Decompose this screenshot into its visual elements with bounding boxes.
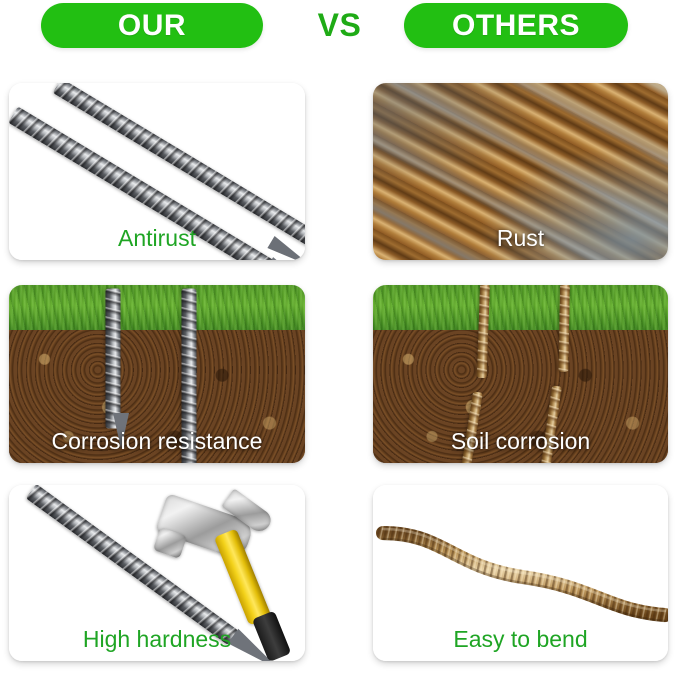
rusty-rebar-pile-image: [373, 83, 668, 260]
others-pill-badge: OTHERS: [404, 3, 628, 48]
intact-stake-2: [182, 289, 197, 464]
soil-cross-section-corroded-stakes-image: [373, 285, 668, 463]
antirust-stakes-image: [9, 83, 305, 260]
intact-stake-1: [106, 289, 121, 429]
intact-stake-1-tip: [113, 413, 129, 449]
corroded-stake-2-upper: [558, 285, 570, 372]
rebar-and-hammer-image: [9, 485, 305, 661]
grass-layer: [373, 285, 668, 330]
soil-cross-section-intact-stakes-image: [9, 285, 305, 463]
comparison-header: OUR VS OTHERS: [0, 0, 679, 56]
comparison-card-others-soil-corrosion: Soil corrosion: [373, 285, 668, 463]
comparison-card-others-easy-to-bend: Easy to bend: [373, 485, 668, 661]
soil-layer: [373, 330, 668, 464]
comparison-card-our-corrosion-resistance: Corrosion resistance: [9, 285, 305, 463]
comparison-card-our-high-hardness: High hardness: [9, 485, 305, 661]
comparison-card-our-antirust: Antirust: [9, 83, 305, 260]
bent-rebar-image: [373, 485, 668, 661]
soil-layer: [9, 330, 305, 464]
bent-rebar-shape: [373, 485, 668, 661]
rust-texture: [373, 83, 668, 260]
comparison-card-others-rust: Rust: [373, 83, 668, 260]
others-pill-label: OTHERS: [452, 11, 580, 41]
grass-layer: [9, 285, 305, 330]
